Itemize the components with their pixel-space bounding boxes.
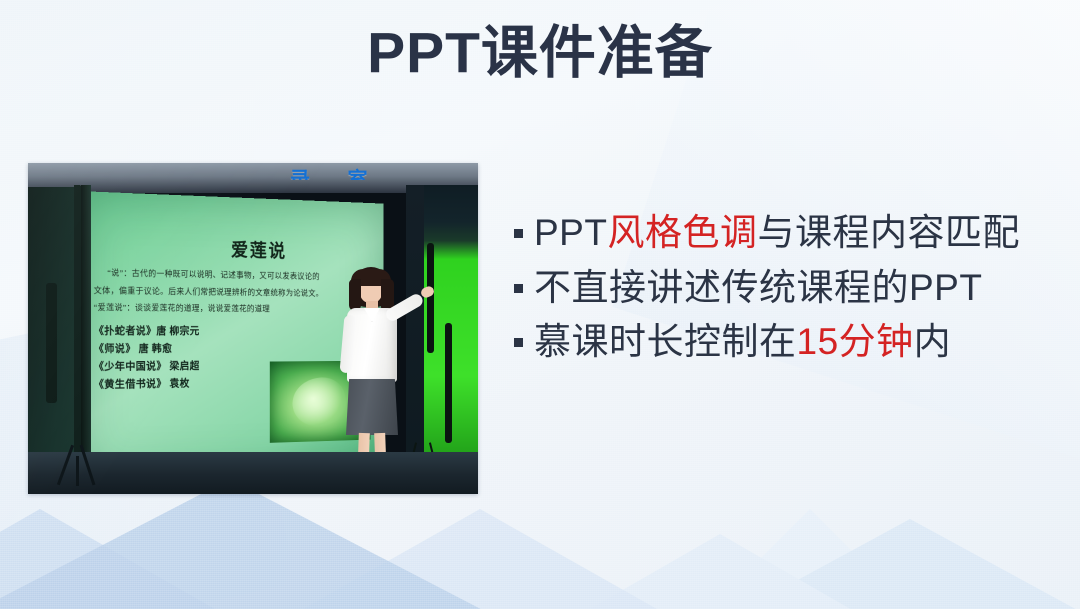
page-title: PPT课件准备 — [0, 24, 1080, 84]
studio-beam-secondary — [46, 283, 57, 403]
bullet-text: 不直接讲述传统课程的PPT — [534, 266, 982, 310]
background-triangle-6 — [660, 509, 960, 609]
studio-beam — [81, 185, 91, 485]
background-triangle-2 — [0, 509, 250, 609]
presenter-hair-left — [349, 279, 361, 311]
square-bullet-icon — [514, 229, 523, 238]
bullet-text: PPT风格色调与课程内容匹配 — [534, 211, 1020, 255]
background-triangle-5 — [680, 519, 1080, 609]
background-triangle-4 — [520, 534, 920, 609]
presenter-skirt — [346, 379, 398, 435]
studio-photo: 录 室 爱莲说 “说”：古代的一种既可以说明、记述事物，又可以发表议论的 文体，… — [28, 163, 478, 494]
studio-floor — [28, 452, 478, 494]
bullet-segment: 不直接讲述传统课程的PPT — [534, 267, 982, 308]
list-item: PPT风格色调与课程内容匹配 — [514, 211, 1070, 255]
bullet-list: PPT风格色调与课程内容匹配 不直接讲述传统课程的PPT 慕课时长控制在15分钟… — [514, 211, 1070, 375]
bullet-segment: PPT — [534, 212, 607, 253]
ceiling-signage-text: 录 室 — [290, 163, 384, 180]
list-item: 慕课时长控制在15分钟内 — [514, 320, 1070, 364]
panel-bar — [445, 323, 452, 443]
square-bullet-icon — [514, 284, 523, 293]
bullet-segment-highlight: 15分钟 — [797, 321, 914, 362]
list-item: 不直接讲述传统课程的PPT — [514, 266, 1070, 310]
bullet-segment: 内 — [914, 321, 952, 362]
bullet-segment-highlight: 风格色调 — [607, 212, 757, 253]
bullet-segment: 慕课时长控制在 — [534, 321, 797, 362]
bullet-segment: 与课程内容匹配 — [757, 212, 1020, 253]
tripod-stand — [56, 442, 118, 486]
background-triangle-3 — [250, 509, 710, 609]
square-bullet-icon — [514, 338, 523, 347]
bullet-text: 慕课时长控制在15分钟内 — [534, 320, 951, 364]
presentation-slide: PPT课件准备 录 室 爱莲说 “说”：古代的一种既可以说明、记述事物，又可以发… — [0, 0, 1080, 609]
background-triangle-1 — [0, 479, 500, 609]
panel-bar — [427, 243, 434, 353]
studio-photo-inner: 录 室 爱莲说 “说”：古代的一种既可以说明、记述事物，又可以发表议论的 文体，… — [28, 163, 478, 494]
